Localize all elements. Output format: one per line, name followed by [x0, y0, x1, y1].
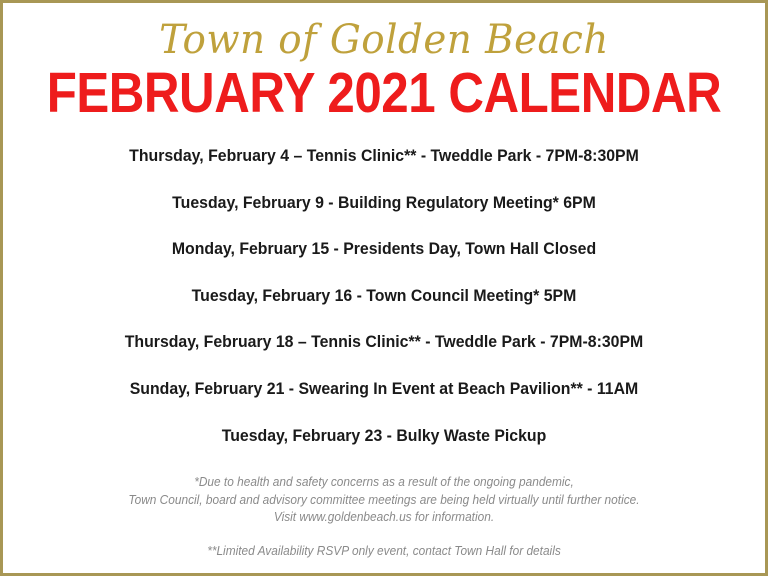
- event-list: Thursday, February 4 – Tennis Clinic** -…: [3, 123, 765, 459]
- footnote-single-asterisk: *Due to health and safety concerns as a …: [3, 474, 765, 527]
- footnote-line: **Limited Availability RSVP only event, …: [22, 543, 746, 561]
- list-item: Thursday, February 4 – Tennis Clinic** -…: [18, 133, 750, 180]
- list-item: Tuesday, February 16 - Town Council Meet…: [18, 273, 750, 320]
- list-item: Thursday, February 18 – Tennis Clinic** …: [18, 319, 750, 366]
- list-item: Tuesday, February 23 - Bulky Waste Picku…: [18, 413, 750, 460]
- list-item: Tuesday, February 9 - Building Regulator…: [18, 180, 750, 227]
- town-name-title: Town of Golden Beach: [14, 3, 753, 64]
- list-item: Sunday, February 21 - Swearing In Event …: [18, 366, 750, 413]
- list-item: Monday, February 15 - Presidents Day, To…: [18, 226, 750, 273]
- footnote-line-website: Visit www.goldenbeach.us for information…: [22, 509, 746, 527]
- poster-header: Town of Golden Beach FEBRUARY 2021 CALEN…: [3, 3, 765, 123]
- footnote-line: *Due to health and safety concerns as a …: [22, 474, 746, 492]
- footnote-line: Town Council, board and advisory committ…: [22, 492, 746, 510]
- footnote-double-asterisk: **Limited Availability RSVP only event, …: [3, 543, 765, 561]
- page-title: FEBRUARY 2021 CALENDAR: [30, 62, 739, 125]
- calendar-poster: Town of Golden Beach FEBRUARY 2021 CALEN…: [0, 0, 768, 576]
- footnotes-block: *Due to health and safety concerns as a …: [3, 474, 765, 560]
